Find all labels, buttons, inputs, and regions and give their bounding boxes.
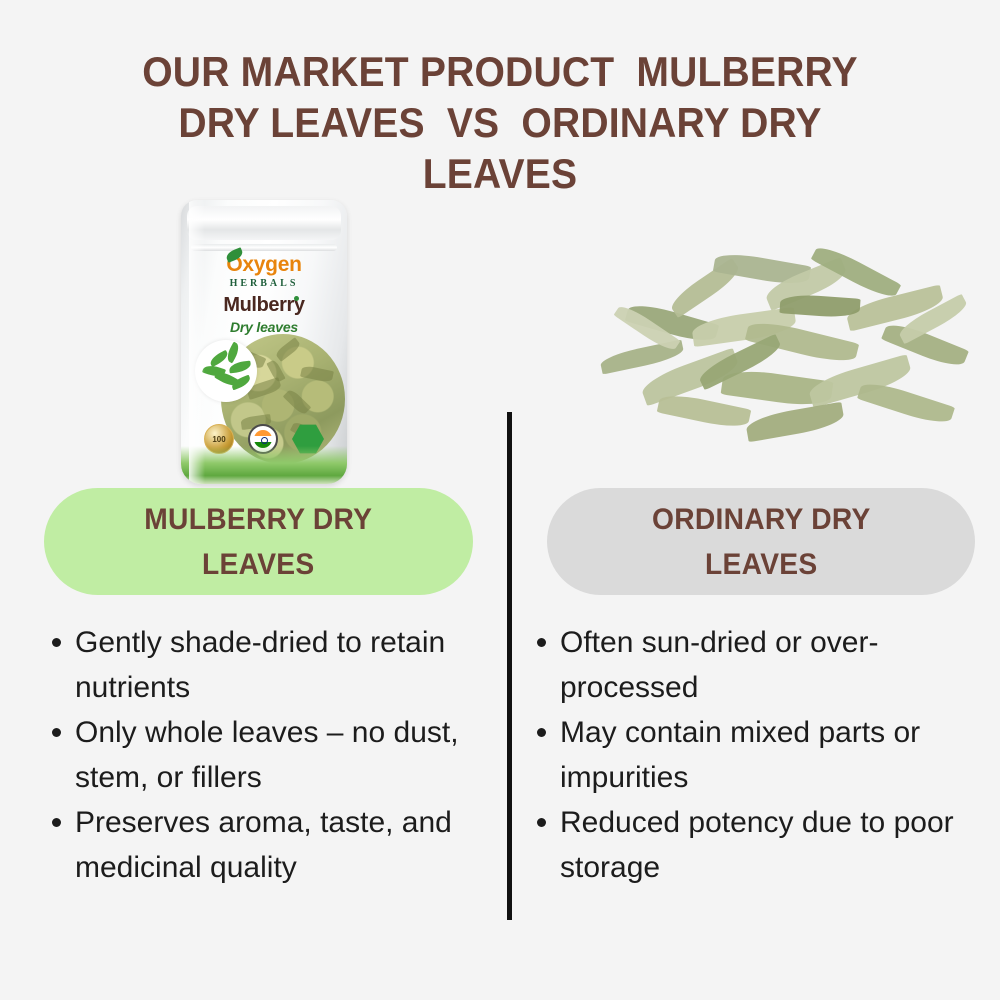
list-item: Reduced potency due to poor storage [537,800,1000,890]
pouch-gloss-highlight [189,200,205,484]
right-column-heading-text: ORDINARY DRY LEAVES [652,497,871,587]
mulberry-product-pouch-image: Oxygen HERBALS Mulberry Dry leaves [181,200,347,484]
list-item-text: Only whole leaves – no dust, stem, or fi… [75,710,522,800]
bullet-dot-icon [537,638,546,647]
list-item-text: Preserves aroma, taste, and medicinal qu… [75,800,522,890]
list-item-text: May contain mixed parts or impurities [560,710,1000,800]
bullet-dot-icon [52,818,61,827]
left-benefits-list: Gently shade-dried to retain nutrients O… [52,620,522,890]
list-item: Often sun-dried or over-processed [537,620,1000,710]
right-column-heading: ORDINARY DRY LEAVES [547,488,975,595]
pouch-top-seal [187,206,341,240]
right-drawbacks-list: Often sun-dried or over-processed May co… [537,620,1000,890]
pouch-product-name: Mulberry [181,294,347,317]
pouch-brand-name: Oxygen [181,254,347,275]
list-item-text: Reduced potency due to poor storage [560,800,1000,890]
pouch-zipper [191,244,337,251]
pouch-product-type: Dry leaves [181,319,347,335]
pouch-trademark-dot-icon [294,296,299,301]
page-title: OUR MARKET PRODUCT MULBERRY DRY LEAVES V… [100,46,900,199]
list-item: Preserves aroma, taste, and medicinal qu… [52,800,522,890]
pouch-bottom-band [181,446,347,484]
bullet-dot-icon [52,728,61,737]
ordinary-dry-leaves-image [596,252,968,460]
infographic-page: OUR MARKET PRODUCT MULBERRY DRY LEAVES V… [0,0,1000,1000]
list-item-text: Often sun-dried or over-processed [560,620,1000,710]
bullet-dot-icon [537,818,546,827]
bullet-dot-icon [537,728,546,737]
pouch-brand-subtitle: HERBALS [181,278,347,289]
list-item: Only whole leaves – no dust, stem, or fi… [52,710,522,800]
list-item: Gently shade-dried to retain nutrients [52,620,522,710]
pouch-brand-rest: xygen [242,253,301,276]
list-item-text: Gently shade-dried to retain nutrients [75,620,522,710]
left-column-heading: MULBERRY DRY LEAVES [44,488,473,595]
bullet-dot-icon [52,638,61,647]
list-item: May contain mixed parts or impurities [537,710,1000,800]
left-column-heading-text: MULBERRY DRY LEAVES [145,497,373,587]
